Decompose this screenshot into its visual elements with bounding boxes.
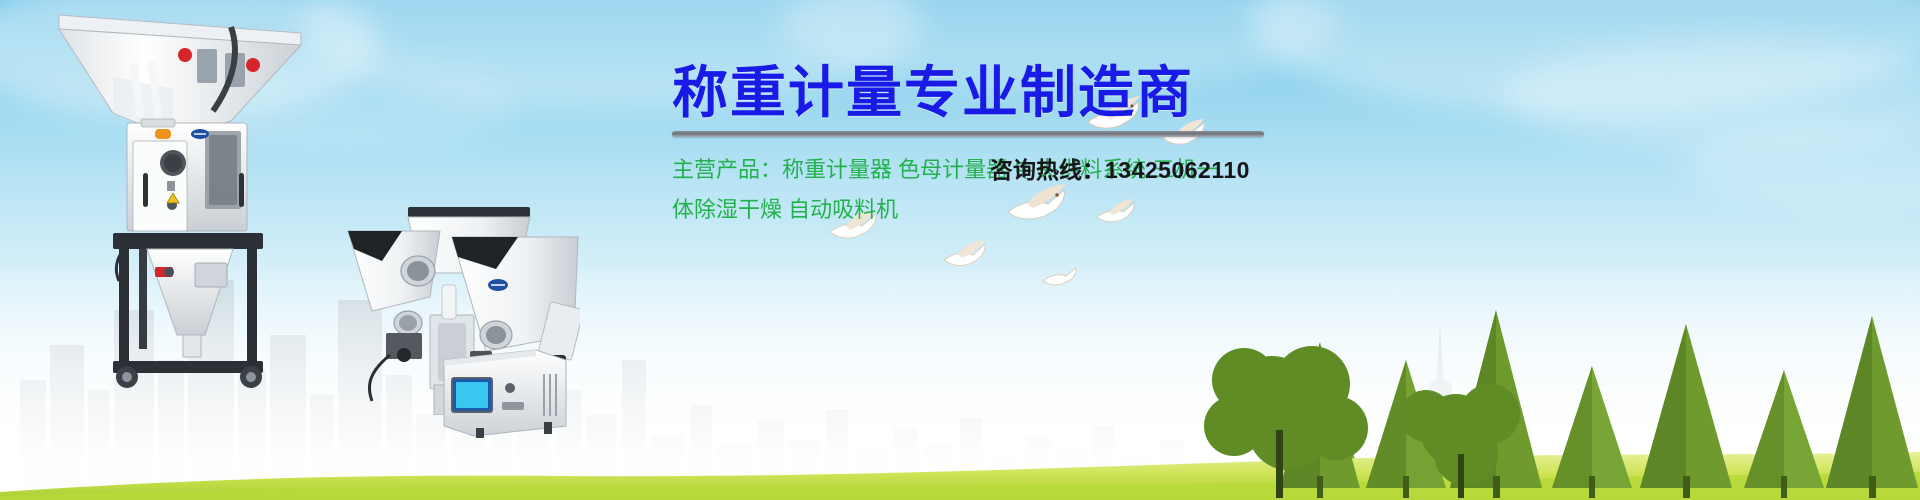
page-title: 称重计量专业制造商 — [672, 62, 1852, 124]
hotline-label: 咨询热线： — [990, 157, 1105, 183]
hotline-number[interactable]: 13425062110 — [1105, 157, 1250, 183]
title-underline-rule — [672, 131, 1264, 137]
hotline: 咨询热线：13425062110 — [990, 150, 1250, 190]
product-banner: 称重计量专业制造商 主营产品：称重计量器 色母计量器 中央供料系统 三机一体除湿… — [0, 0, 1920, 500]
banner-text-block: 称重计量专业制造商 主营产品：称重计量器 色母计量器 中央供料系统 三机一体除湿… — [672, 62, 1852, 230]
machine-gravimetric-blender — [55, 5, 305, 425]
tree-cluster — [1160, 280, 1920, 500]
subtext-wrapper: 主营产品：称重计量器 色母计量器 中央供料系统 三机一体除湿干燥 自动吸料机 咨… — [672, 150, 1240, 230]
machine-control-cabinet — [440, 330, 570, 440]
